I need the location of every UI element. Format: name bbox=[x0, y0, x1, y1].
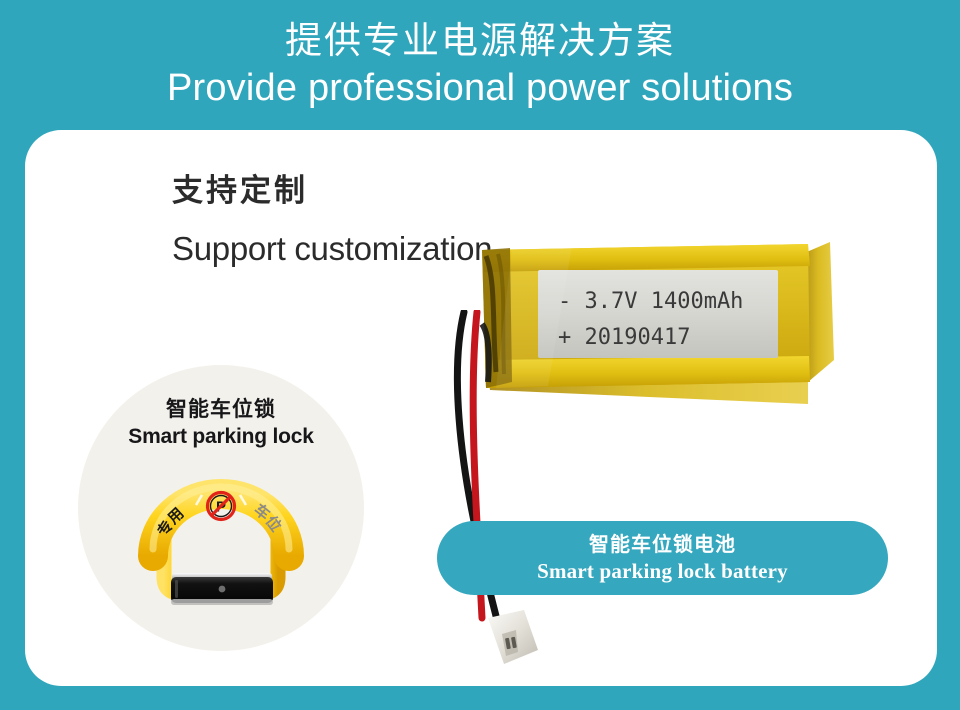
support-title-en: Support customization bbox=[172, 228, 492, 270]
battery-label-line1: - 3.7V 1400mAh bbox=[558, 289, 743, 314]
parking-lock-inset: 智能车位锁 Smart parking lock bbox=[78, 365, 364, 651]
caption-pill-en: Smart parking lock battery bbox=[537, 558, 788, 584]
lock-base-button[interactable] bbox=[219, 586, 226, 593]
header-title-cn: 提供专业电源解决方案 bbox=[285, 19, 675, 63]
lipo-battery-cell: - 3.7V 1400mAh + 20190417 bbox=[452, 232, 872, 422]
caption-pill-cn: 智能车位锁电池 bbox=[589, 533, 736, 558]
parking-lock-caption-en: Smart parking lock bbox=[78, 423, 364, 450]
lock-base-unit bbox=[171, 573, 273, 605]
header-title-en: Provide professional power solutions bbox=[167, 65, 793, 111]
support-customization-block: 支持定制 Support customization bbox=[172, 172, 492, 270]
page-header: 提供专业电源解决方案 Provide professional power so… bbox=[0, 0, 960, 130]
parking-lock-caption-cn: 智能车位锁 bbox=[78, 397, 364, 423]
support-title-cn: 支持定制 bbox=[172, 172, 492, 210]
page-root: 提供专业电源解决方案 Provide professional power so… bbox=[0, 0, 960, 710]
battery-label-line2: + 20190417 bbox=[558, 325, 690, 350]
caption-pill: 智能车位锁电池 Smart parking lock battery bbox=[437, 521, 888, 595]
parking-lock-illustration: 专用 车位 P bbox=[128, 461, 314, 611]
jst-connector bbox=[478, 604, 550, 670]
parking-lock-caption: 智能车位锁 Smart parking lock bbox=[78, 397, 364, 450]
